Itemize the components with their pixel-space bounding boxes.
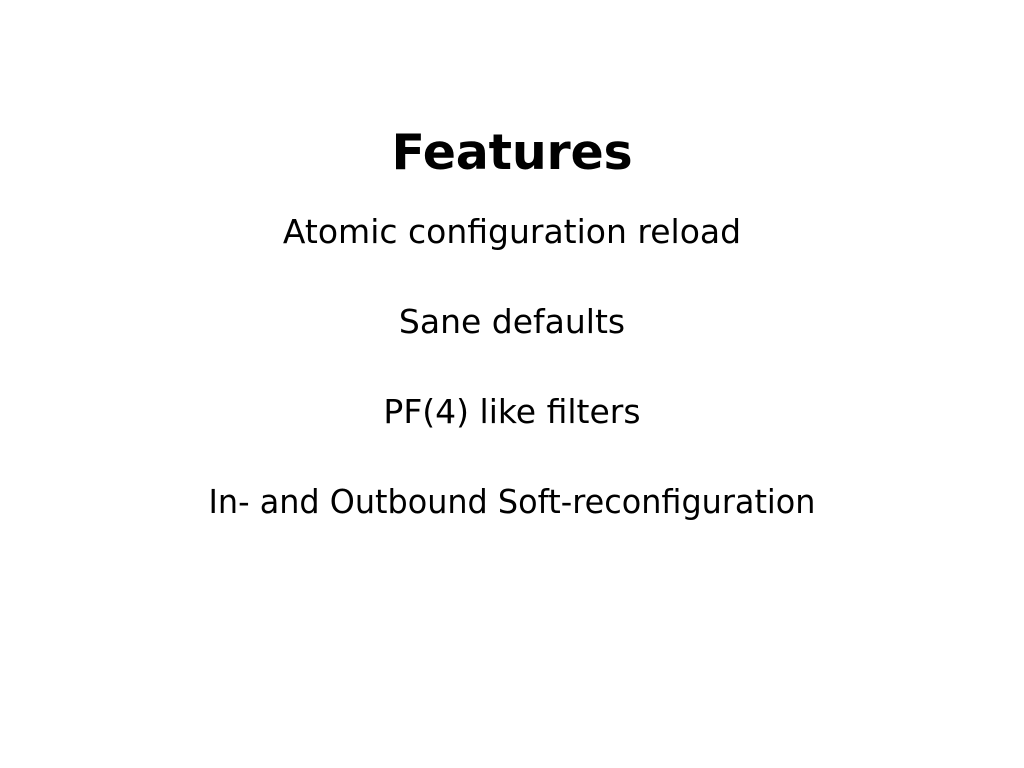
- presentation-slide: Features Atomic configuration reload San…: [0, 0, 1024, 768]
- slide-bullet-line: In- and Outbound Soft-reconfiguration: [18, 482, 1006, 522]
- slide-bullet-line: Atomic configuration reload: [0, 212, 1024, 252]
- slide-bullet-line: PF(4) like filters: [0, 392, 1024, 432]
- slide-body: Atomic configuration reload Sane default…: [0, 212, 1024, 522]
- slide-title: Features: [0, 127, 1024, 179]
- slide-bullet-line: Sane defaults: [0, 302, 1024, 342]
